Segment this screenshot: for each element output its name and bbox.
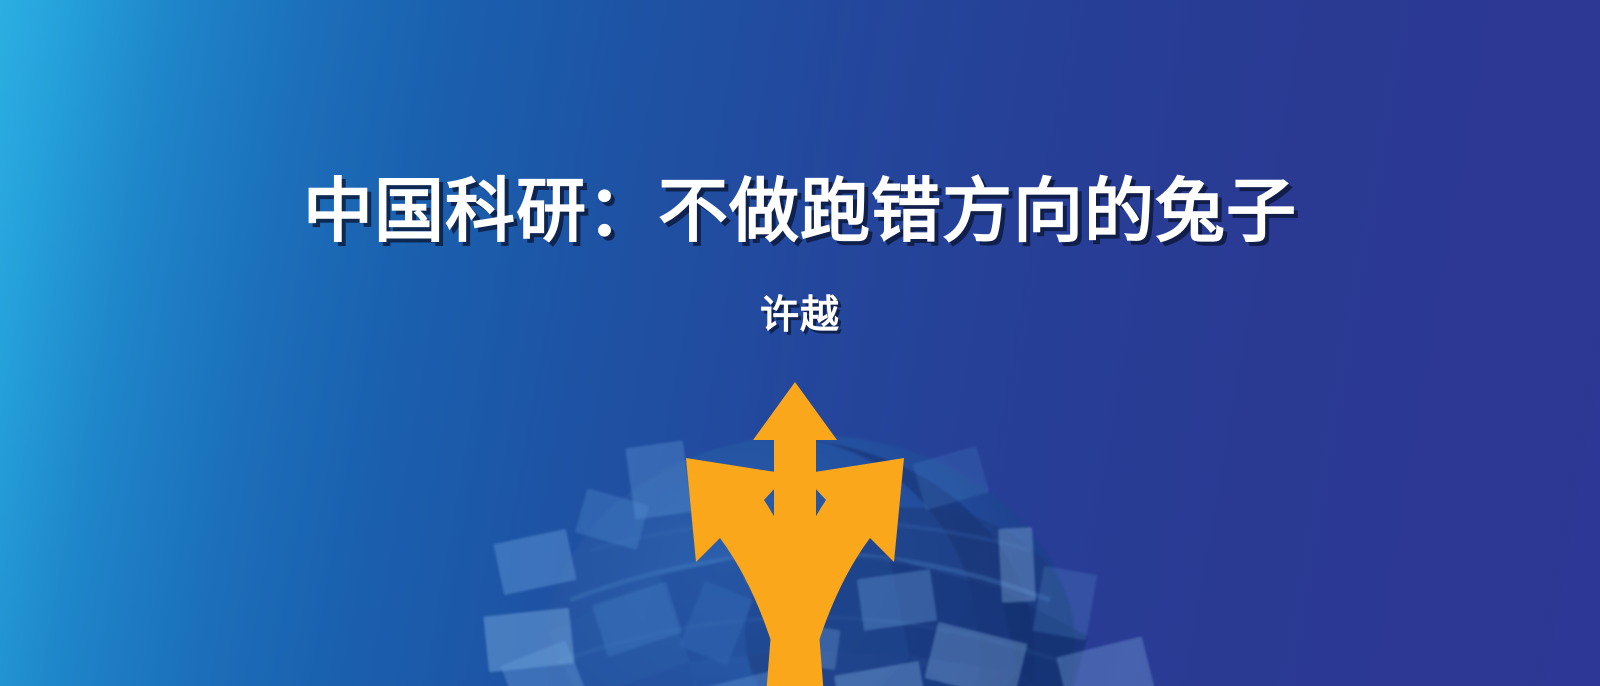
three-way-arrow-icon <box>600 376 990 686</box>
presentation-slide: 中国科研：不做跑错方向的兔子 许越 <box>0 0 1600 686</box>
